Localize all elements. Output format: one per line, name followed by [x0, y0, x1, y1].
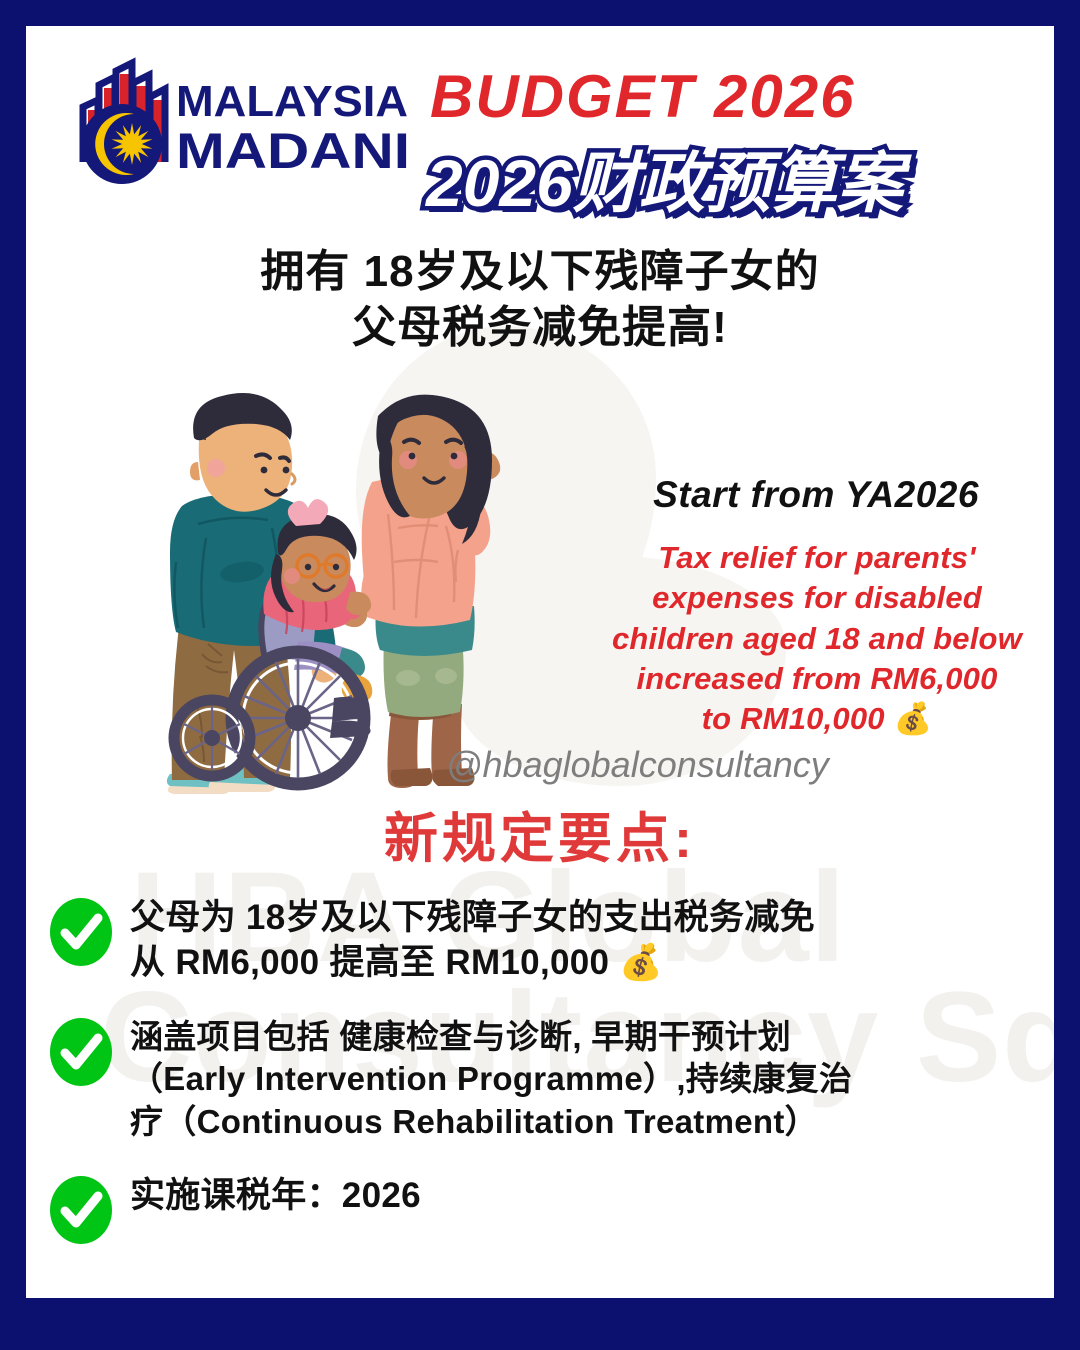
malaysia-madani-logo: MALAYSIA MADANI: [64, 52, 414, 192]
family-with-wheelchair-illustration: [146, 386, 546, 806]
bullet-line: 涵盖项目包括 健康检查与诊断, 早期干预计划: [130, 1016, 852, 1059]
bullet-line: 实施课税年：2026: [130, 1174, 421, 1219]
start-from-line: Start from YA2026: [586, 474, 1046, 516]
budget-title-chinese-wrap: 2026财政预算案: [426, 130, 903, 226]
headline-line-2: 父母税务减免提高!: [26, 300, 1054, 356]
english-description-line: to RM10,000: [702, 701, 885, 736]
check-circle-icon: [48, 896, 114, 968]
bullet-line: 疗（Continuous Rehabilitation Treatment）: [130, 1101, 852, 1144]
list-item-text: 实施课税年：2026: [130, 1172, 421, 1219]
bullet-line: 父母为 18岁及以下残障子女的支出税务减免: [130, 896, 815, 941]
check-circle-icon: [48, 1016, 114, 1088]
english-description-line: children aged 18 and below: [574, 619, 1054, 659]
list-item: 实施课税年：2026: [48, 1172, 1048, 1246]
english-description-line: expenses for disabled: [574, 578, 1054, 618]
money-bag-icon: 💰: [894, 701, 933, 736]
social-handle-watermark: @hbaglobalconsultancy: [446, 744, 829, 786]
list-item-text: 父母为 18岁及以下残障子女的支出税务减免 从 RM6,000 提高至 RM10…: [130, 894, 815, 986]
budget-title-chinese: 2026财政预算案: [426, 146, 903, 220]
section-title: 新规定要点:: [26, 794, 1054, 873]
list-item-text: 涵盖项目包括 健康检查与诊断, 早期干预计划 （Early Interventi…: [130, 1014, 852, 1145]
logo-text-malaysia: MALAYSIA: [176, 77, 408, 126]
bullet-line: 从 RM6,000 提高至 RM10,000: [130, 943, 609, 982]
headline-line-1: 拥有 18岁及以下残障子女的: [26, 244, 1054, 300]
money-bag-icon: 💰: [619, 943, 663, 982]
poster-canvas: HBA Global Consultancy Sdn. Bhd.: [26, 26, 1054, 1298]
english-description: Tax relief for parents' expenses for dis…: [574, 538, 1054, 739]
list-item: 涵盖项目包括 健康检查与诊断, 早期干预计划 （Early Interventi…: [48, 1014, 1048, 1145]
budget-title-english: BUDGET 2026: [430, 62, 855, 131]
poster-root: HBA Global Consultancy Sdn. Bhd.: [0, 0, 1080, 1350]
check-circle-icon: [48, 1174, 114, 1246]
list-item: 父母为 18岁及以下残障子女的支出税务减免 从 RM6,000 提高至 RM10…: [48, 894, 1048, 986]
english-description-line: Tax relief for parents': [574, 538, 1054, 578]
page-headline: 拥有 18岁及以下残障子女的 父母税务减免提高!: [26, 244, 1054, 357]
poster-header: MALAYSIA MADANI BUDGET 2026 2026财政预算案: [26, 26, 1054, 206]
logo-text-madani: MADANI: [176, 123, 410, 179]
english-description-last-line: to RM10,000 💰: [574, 699, 1054, 739]
english-description-line: increased from RM6,000: [574, 659, 1054, 699]
bullet-list: 父母为 18岁及以下残障子女的支出税务减免 从 RM6,000 提高至 RM10…: [48, 894, 1048, 1274]
bullet-line: （Early Intervention Programme）,持续康复治: [130, 1058, 852, 1101]
bullet-line-wrap: 从 RM6,000 提高至 RM10,000 💰: [130, 941, 815, 986]
